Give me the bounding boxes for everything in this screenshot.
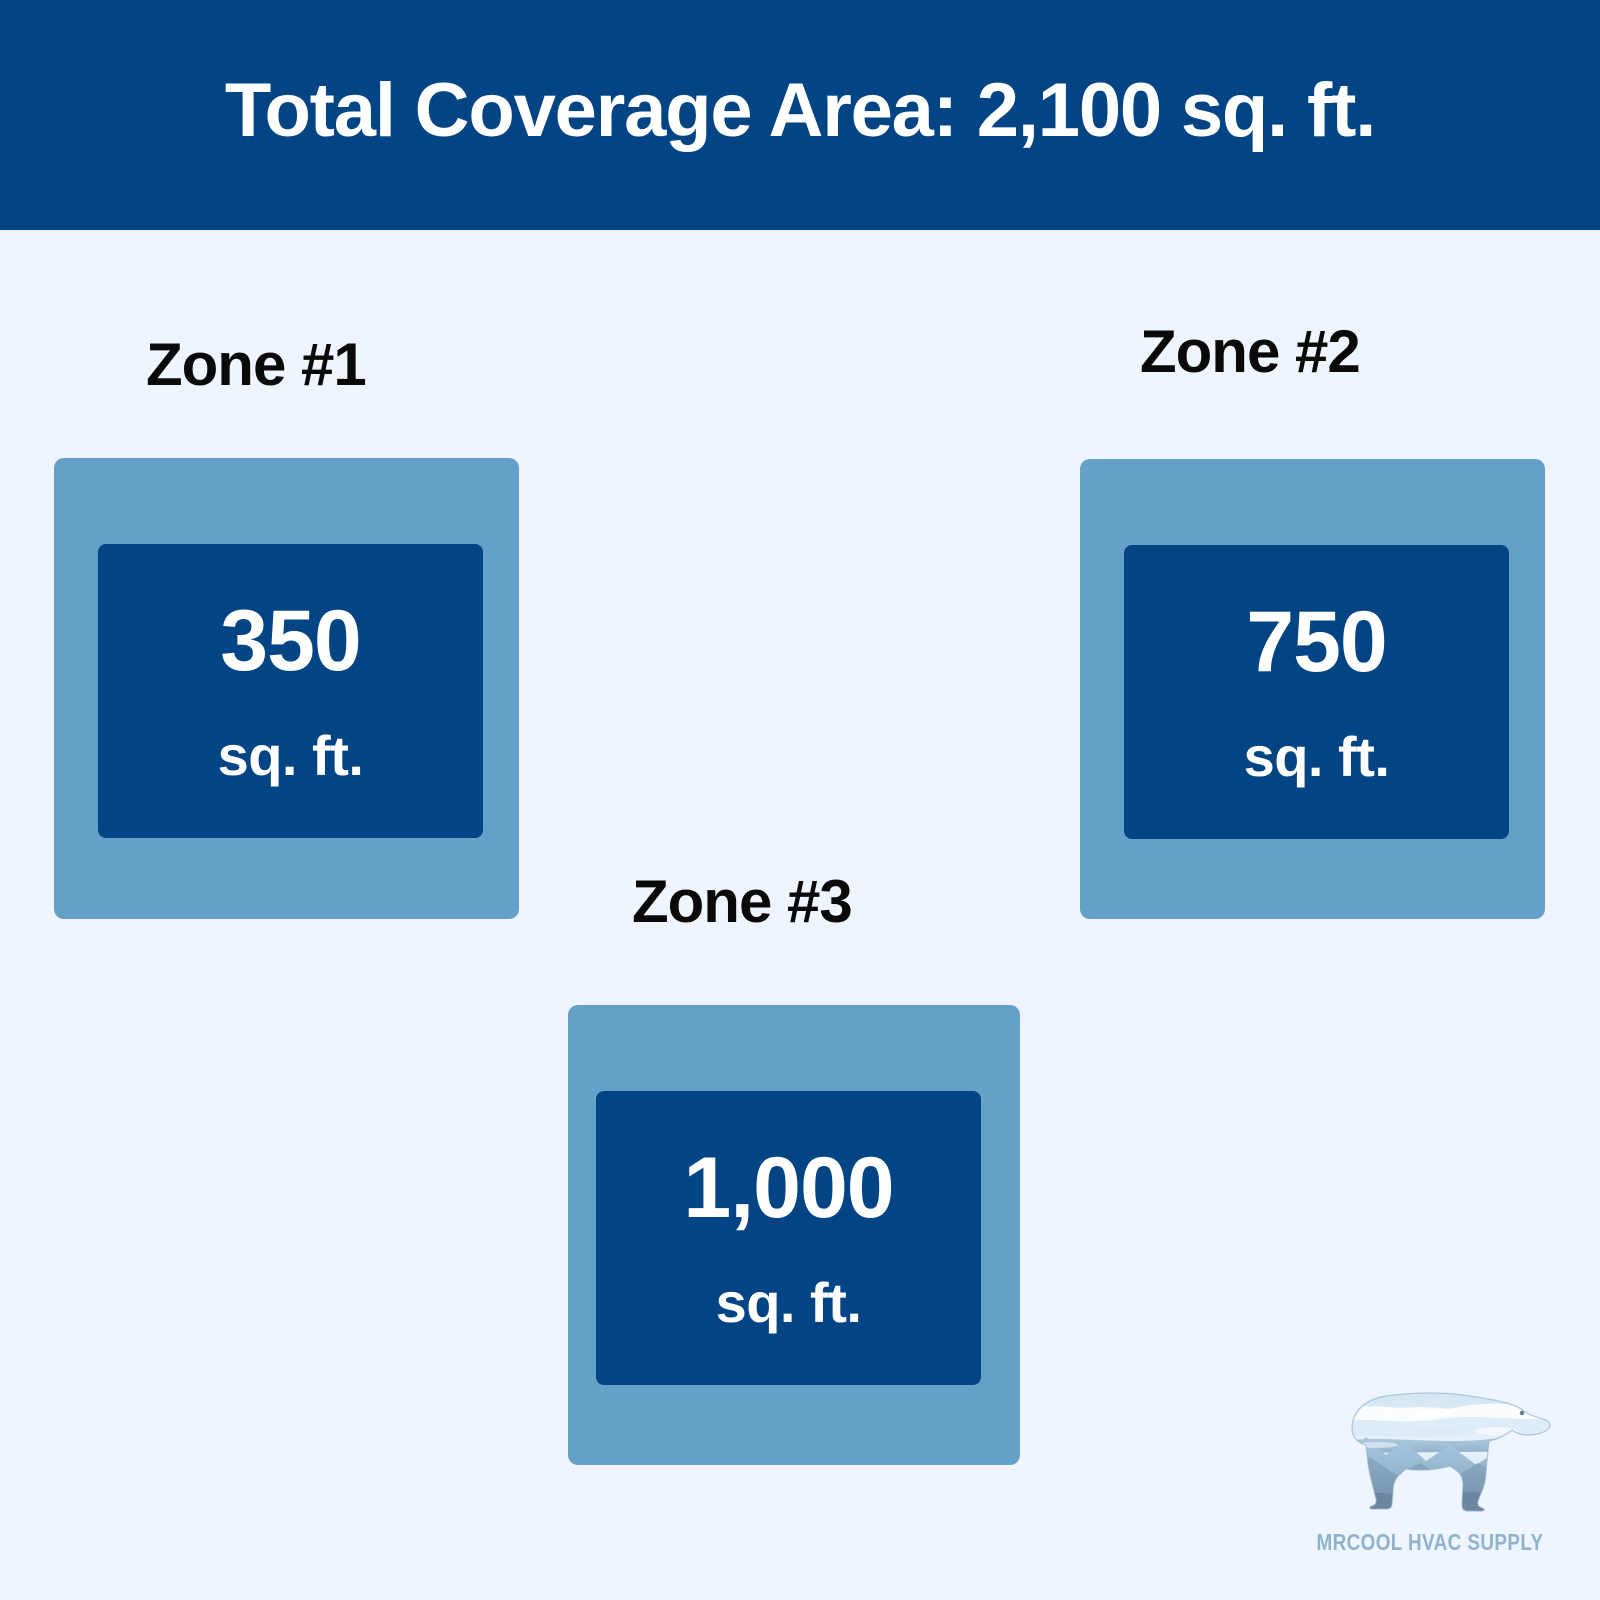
zone-value-box-3: 1,000 sq. ft. [596,1091,981,1385]
zone-label-1: Zone #1 [146,335,366,395]
zone-card-1[interactable]: 350 sq. ft. [54,458,519,919]
zone-label-2: Zone #2 [1140,322,1360,382]
zone-value-2: 750 [1246,599,1387,685]
zone-unit-1: sq. ft. [218,728,364,784]
zone-label-3: Zone #3 [632,872,852,932]
zone-card-2[interactable]: 750 sq. ft. [1080,459,1545,919]
polar-bear-icon [1300,1375,1560,1525]
zone-value-3: 1,000 [683,1145,893,1231]
header-banner: Total Coverage Area: 2,100 sq. ft. [0,0,1600,230]
zone-unit-3: sq. ft. [716,1275,862,1331]
zone-unit-2: sq. ft. [1244,729,1390,785]
zone-value-1: 350 [220,598,361,684]
zone-value-box-1: 350 sq. ft. [98,544,483,838]
logo-wordmark: MRCOOL HVAC SUPPLY [1311,1529,1549,1556]
brand-logo: MRCOOL HVAC SUPPLY [1285,1375,1575,1575]
zone-card-3[interactable]: 1,000 sq. ft. [568,1005,1020,1465]
page-title: Total Coverage Area: 2,100 sq. ft. [225,73,1375,149]
zone-value-box-2: 750 sq. ft. [1124,545,1509,839]
